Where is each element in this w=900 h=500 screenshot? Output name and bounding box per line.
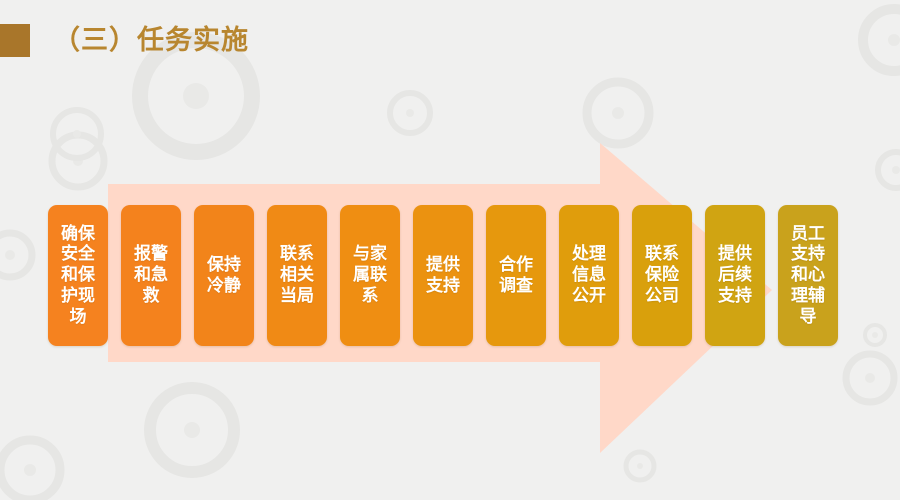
process-step-list: 确保安全和保护现场报警和急救保持冷静联系相关当局与家属联系提供支持合作调查处理信… xyxy=(48,205,838,346)
process-step-4[interactable]: 联系相关当局 xyxy=(267,205,327,346)
process-step-9[interactable]: 联系保险公司 xyxy=(632,205,692,346)
process-step-label: 提供后续支持 xyxy=(710,244,760,306)
process-step-8[interactable]: 处理信息公开 xyxy=(559,205,619,346)
process-step-label: 联系相关当局 xyxy=(272,244,322,306)
process-step-label: 提供支持 xyxy=(418,255,468,296)
process-step-6[interactable]: 提供支持 xyxy=(413,205,473,346)
process-step-label: 保持冷静 xyxy=(199,255,249,296)
process-step-7[interactable]: 合作调查 xyxy=(486,205,546,346)
process-step-label: 与家属联系 xyxy=(345,244,395,306)
slide-canvas: （三）任务实施 确保安全和保护现场报警和急救保持冷静联系相关当局与家属联系提供支… xyxy=(0,0,900,500)
process-step-label: 处理信息公开 xyxy=(564,244,614,306)
process-step-label: 员工支持和心理辅导 xyxy=(783,224,833,328)
process-step-3[interactable]: 保持冷静 xyxy=(194,205,254,346)
process-step-label: 报警和急救 xyxy=(126,244,176,306)
process-step-label: 确保安全和保护现场 xyxy=(53,224,103,328)
process-step-5[interactable]: 与家属联系 xyxy=(340,205,400,346)
process-step-label: 合作调查 xyxy=(491,255,541,296)
process-step-11[interactable]: 员工支持和心理辅导 xyxy=(778,205,838,346)
process-step-label: 联系保险公司 xyxy=(637,244,687,306)
process-step-10[interactable]: 提供后续支持 xyxy=(705,205,765,346)
process-step-2[interactable]: 报警和急救 xyxy=(121,205,181,346)
process-step-1[interactable]: 确保安全和保护现场 xyxy=(48,205,108,346)
